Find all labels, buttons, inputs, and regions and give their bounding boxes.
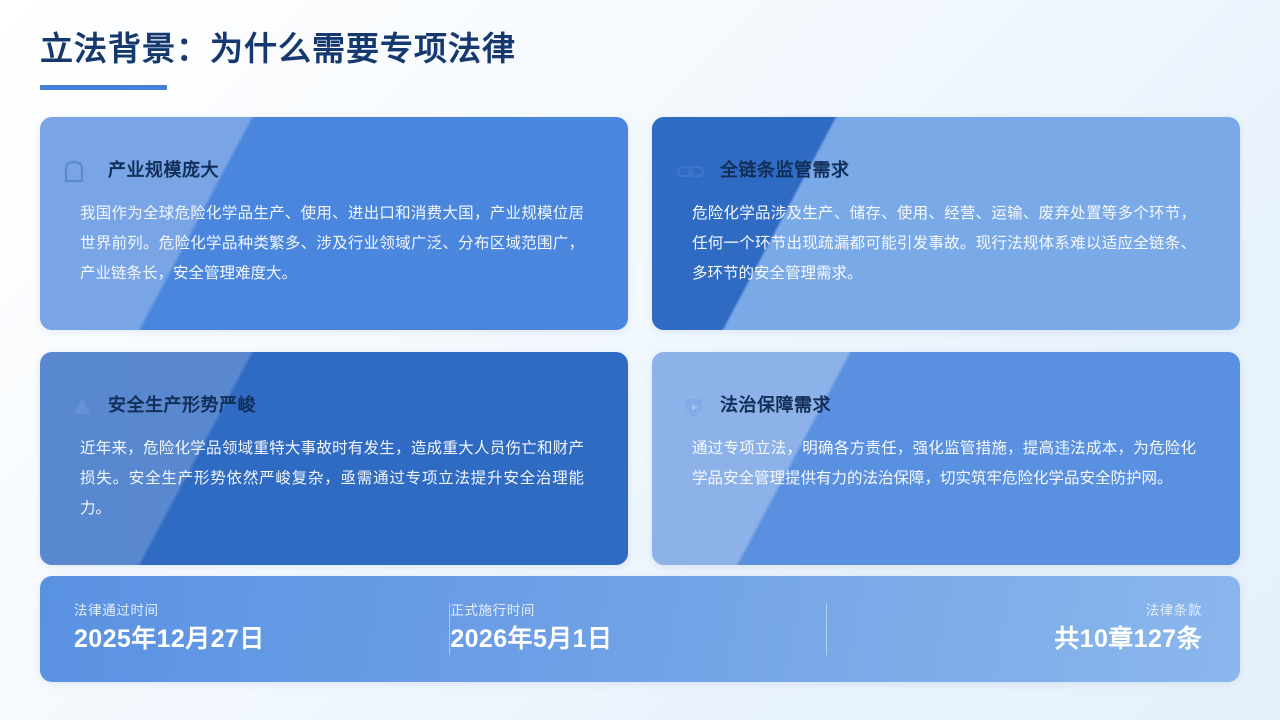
title-underline-accent bbox=[40, 85, 167, 90]
stat-label: 正式施行时间 bbox=[450, 604, 791, 618]
slide-header: 立法背景：为什么需要专项法律 bbox=[40, 28, 1220, 90]
reason-card-industry-scale[interactable]: 产业规模庞大 我国作为全球危险化学品生产、使用、进出口和消费大国，产业规模位居世… bbox=[40, 117, 628, 330]
shield-icon bbox=[670, 390, 720, 420]
stat-value: 2026年5月1日 bbox=[450, 625, 791, 654]
stat-value: 共10章127条 bbox=[861, 625, 1202, 654]
warning-triangle-icon bbox=[58, 390, 108, 420]
key-facts-bar: 法律通过时间 2025年12月27日 正式施行时间 2026年5月1日 法律条款… bbox=[40, 576, 1240, 682]
reason-card-safety-situation[interactable]: 安全生产形势严峻 近年来，危险化学品领域重特大事故时有发生，造成重大人员伤亡和财… bbox=[40, 352, 628, 565]
card-title: 产业规模庞大 bbox=[108, 161, 219, 179]
reason-card-full-chain-supervision[interactable]: 全链条监管需求 危险化学品涉及生产、储存、使用、经营、运输、废弃处置等多个环节，… bbox=[652, 117, 1240, 330]
card-header: 安全生产形势严峻 bbox=[58, 390, 594, 420]
card-body-text: 我国作为全球危险化学品生产、使用、进出口和消费大国，产业规模位居世界前列。危险化… bbox=[58, 199, 594, 290]
stat-item-effective-date: 正式施行时间 2026年5月1日 bbox=[450, 604, 825, 653]
card-header: 全链条监管需求 bbox=[670, 155, 1206, 185]
card-title: 全链条监管需求 bbox=[720, 161, 850, 179]
card-body-text: 通过专项立法，明确各方责任，强化监管措施，提高违法成本，为危险化学品安全管理提供… bbox=[670, 434, 1206, 494]
stat-value: 2025年12月27日 bbox=[74, 625, 415, 654]
stat-item-article-count: 法律条款 共10章127条 bbox=[827, 604, 1240, 653]
chain-link-icon bbox=[670, 155, 720, 185]
card-header: 法治保障需求 bbox=[670, 390, 1206, 420]
card-body-text: 近年来，危险化学品领域重特大事故时有发生，造成重大人员伤亡和财产损失。安全生产形… bbox=[58, 434, 594, 525]
card-title: 法治保障需求 bbox=[720, 396, 831, 414]
card-title: 安全生产形势严峻 bbox=[108, 396, 256, 414]
stat-label: 法律通过时间 bbox=[74, 604, 415, 618]
card-body-text: 危险化学品涉及生产、储存、使用、经营、运输、废弃处置等多个环节，任何一个环节出现… bbox=[670, 199, 1206, 290]
factory-icon bbox=[58, 155, 108, 185]
slide-root: 立法背景：为什么需要专项法律 产业规模庞大 我国作为全球危险化学品生产、使用、进… bbox=[0, 0, 1280, 720]
stat-item-passed-date: 法律通过时间 2025年12月27日 bbox=[40, 604, 449, 653]
reason-card-grid: 产业规模庞大 我国作为全球危险化学品生产、使用、进出口和消费大国，产业规模位居世… bbox=[40, 117, 1240, 565]
reason-card-rule-of-law[interactable]: 法治保障需求 通过专项立法，明确各方责任，强化监管措施，提高违法成本，为危险化学… bbox=[652, 352, 1240, 565]
stat-label: 法律条款 bbox=[861, 604, 1202, 618]
page-title: 立法背景：为什么需要专项法律 bbox=[40, 28, 1220, 69]
card-header: 产业规模庞大 bbox=[58, 155, 594, 185]
